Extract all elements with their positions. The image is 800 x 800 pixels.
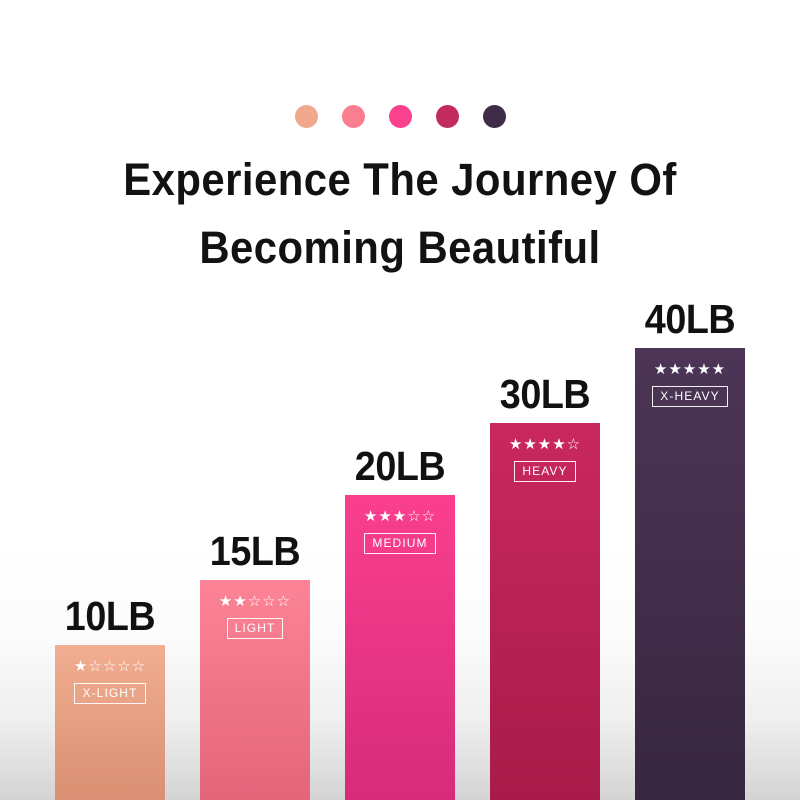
bar-30lb-star-rating: ★★★★☆ xyxy=(509,437,581,452)
bar-40lb-star-rating: ★★★★★ xyxy=(654,362,726,377)
bar-10lb-content: ★☆☆☆☆X-LIGHT xyxy=(55,645,165,704)
bar-30lb-bar[interactable]: ★★★★☆HEAVY xyxy=(490,423,600,800)
bar-20lb-content: ★★★☆☆MEDIUM xyxy=(345,495,455,554)
poster-canvas: Experience The Journey Of Becoming Beaut… xyxy=(0,0,800,800)
bar-10lb-star-rating: ★☆☆☆☆ xyxy=(74,659,146,674)
bar-20lb-star-rating: ★★★☆☆ xyxy=(364,509,436,524)
bar-40lb-bar[interactable]: ★★★★★X-HEAVY xyxy=(635,348,745,800)
bar-30lb-level-badge: HEAVY xyxy=(514,461,575,482)
bar-15lb-bar[interactable]: ★★☆☆☆LIGHT xyxy=(200,580,310,800)
bar-20lb-weight-label: 20LB xyxy=(355,446,445,487)
bar-20lb-level-badge: MEDIUM xyxy=(364,533,435,554)
bar-40lb-level-badge: X-HEAVY xyxy=(652,386,728,407)
bar-10lb-weight-label: 10LB xyxy=(65,596,155,637)
bar-10lb-bar[interactable]: ★☆☆☆☆X-LIGHT xyxy=(55,645,165,800)
bar-20lb-bar[interactable]: ★★★☆☆MEDIUM xyxy=(345,495,455,800)
bar-15lb-content: ★★☆☆☆LIGHT xyxy=(200,580,310,639)
bar-10lb-level-badge: X-LIGHT xyxy=(74,683,145,704)
bar-40lb-content: ★★★★★X-HEAVY xyxy=(635,348,745,407)
bar-40lb-weight-label: 40LB xyxy=(645,299,735,340)
bar-15lb-star-rating: ★★☆☆☆ xyxy=(219,594,291,609)
bar-15lb-level-badge: LIGHT xyxy=(227,618,284,639)
resistance-band-bar-chart: 10LB★☆☆☆☆X-LIGHT15LB★★☆☆☆LIGHT20LB★★★☆☆M… xyxy=(0,0,800,800)
bar-30lb-content: ★★★★☆HEAVY xyxy=(490,423,600,482)
bar-30lb-weight-label: 30LB xyxy=(500,374,590,415)
bar-15lb-weight-label: 15LB xyxy=(210,531,300,572)
